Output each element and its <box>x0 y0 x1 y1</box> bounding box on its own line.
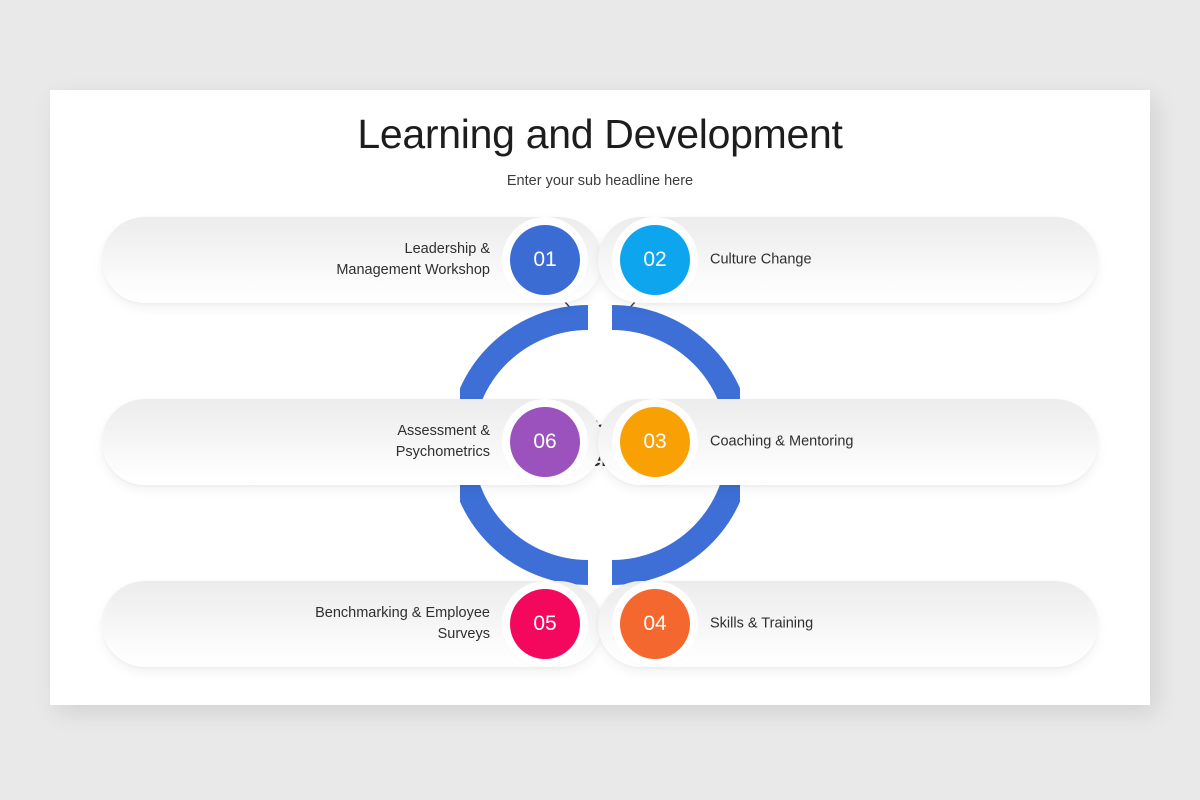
item-label-02-line1: Culture Change <box>710 251 812 267</box>
item-number-badge-02[interactable]: 02 <box>620 225 690 295</box>
item-number-badge-05[interactable]: 05 <box>510 589 580 659</box>
slide-canvas: Learning and Development Enter your sub … <box>50 90 1150 705</box>
item-card-06[interactable]: Assessment & Psychometrics 06 <box>102 399 602 485</box>
item-label-06: Assessment & Psychometrics <box>142 421 490 463</box>
item-label-03-line1: Coaching & Mentoring <box>710 433 853 449</box>
item-card-05[interactable]: Benchmarking & Employee Surveys 05 <box>102 581 602 667</box>
item-label-05-line2: Surveys <box>438 626 490 642</box>
item-card-01[interactable]: Leadership & Management Workshop 01 <box>102 217 602 303</box>
page-subtitle: Enter your sub headline here <box>50 173 1150 189</box>
item-number-badge-04[interactable]: 04 <box>620 589 690 659</box>
item-label-06-line1: Assessment & <box>397 423 490 439</box>
item-number-badge-01[interactable]: 01 <box>510 225 580 295</box>
item-label-03: Coaching & Mentoring <box>710 431 1062 452</box>
item-label-05: Benchmarking & Employee Surveys <box>142 603 490 645</box>
item-label-04-line1: Skills & Training <box>710 615 813 631</box>
item-label-05-line1: Benchmarking & Employee <box>315 605 490 621</box>
page-title: Learning and Development <box>50 112 1150 157</box>
item-number-badge-06[interactable]: 06 <box>510 407 580 477</box>
item-card-02[interactable]: 02 Culture Change <box>598 217 1098 303</box>
item-label-02: Culture Change <box>710 249 1062 270</box>
item-card-04[interactable]: 04 Skills & Training <box>598 581 1098 667</box>
item-label-01-line1: Leadership & <box>405 241 490 257</box>
item-label-01-line2: Management Workshop <box>336 262 490 278</box>
item-label-01: Leadership & Management Workshop <box>142 239 490 281</box>
item-number-badge-03[interactable]: 03 <box>620 407 690 477</box>
item-card-03[interactable]: 03 Coaching & Mentoring <box>598 399 1098 485</box>
item-label-06-line2: Psychometrics <box>396 444 490 460</box>
item-label-04: Skills & Training <box>710 613 1062 634</box>
slide-header: Learning and Development Enter your sub … <box>50 112 1150 189</box>
